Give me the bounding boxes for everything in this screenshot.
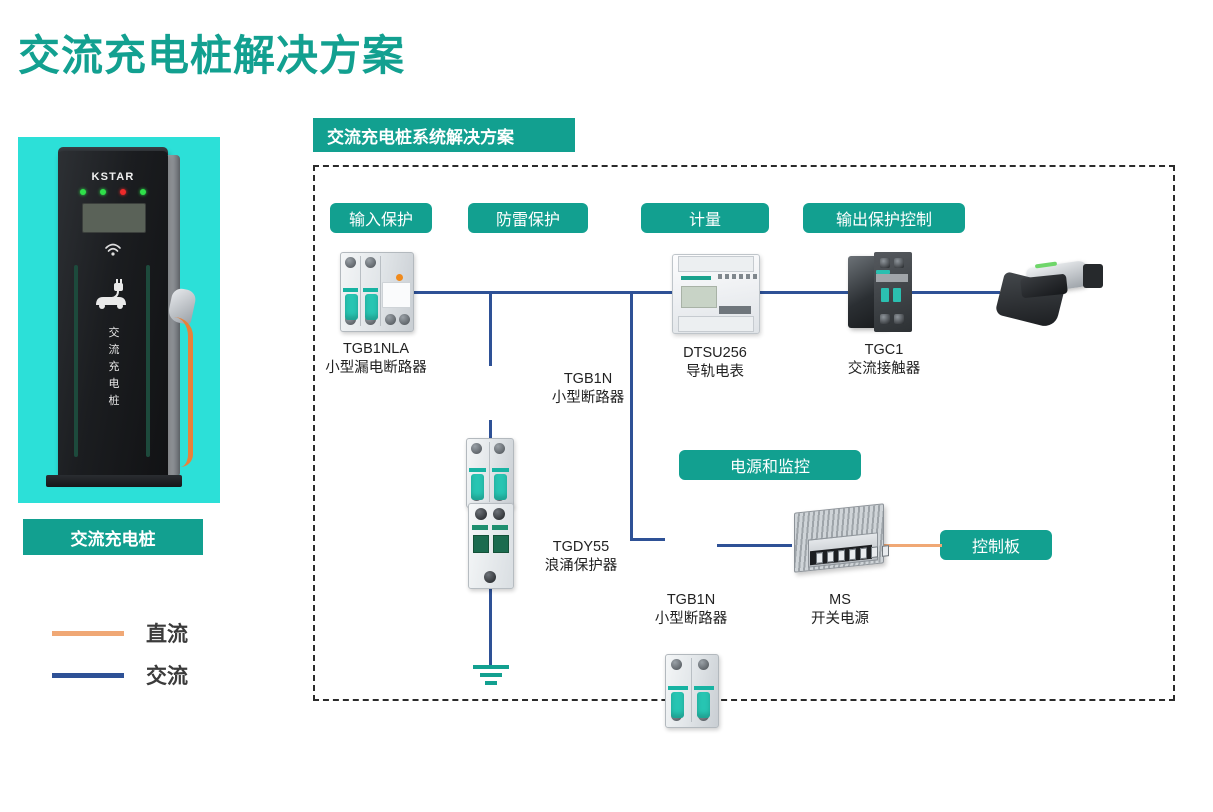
diagram-banner: 交流充电桩系统解决方案: [313, 118, 575, 152]
pile-base: [46, 475, 182, 487]
legend-line-dc: [52, 631, 124, 636]
badge-lightning-protection: 防雷保护: [468, 203, 588, 233]
label-tgb1n-lower-model: TGB1N: [667, 592, 715, 608]
wire-ac-contactor-to-gun: [910, 291, 1000, 294]
label-tgdy55: TGDY55 浪涌保护器: [526, 538, 636, 576]
wire-ac-breaker-to-psu: [717, 544, 792, 547]
label-tgb1nla: TGB1NLA 小型漏电断路器: [306, 340, 446, 378]
wire-ac-surge-to-ground: [489, 585, 492, 667]
rcd-test-indicator: [396, 274, 403, 281]
ev-connector-gun: [995, 258, 1107, 330]
led-green-3: [140, 189, 146, 195]
label-ms-psu: MS 开关电源: [793, 591, 887, 629]
device-ms-power-supply: [794, 508, 882, 566]
device-tgb1n-lower: [665, 654, 717, 726]
wire-ac-main-bus: [412, 291, 676, 294]
label-ms-name: 开关电源: [811, 611, 869, 627]
pile-brand-label: KSTAR: [58, 171, 168, 183]
badge-output-protection-control: 输出保护控制: [803, 203, 965, 233]
device-dtsu256-meter: [672, 254, 758, 332]
label-dtsu256-model: DTSU256: [683, 345, 747, 361]
device-tgb1nla-rcbo: [340, 252, 412, 330]
label-tgc1-name: 交流接触器: [848, 361, 921, 377]
label-tgc1-model: TGC1: [865, 342, 904, 358]
badge-power-and-monitoring: 电源和监控: [679, 450, 861, 480]
led-green-2: [100, 189, 106, 195]
wire-ac-branch-psu: [630, 291, 633, 541]
device-tgdy55-spd: [468, 503, 512, 587]
wire-ac-branch-spd: [489, 291, 492, 366]
charging-pile-photo: KSTAR 交流充电桩: [18, 137, 220, 503]
pile-stripe-left: [74, 265, 78, 457]
label-tgb1n-upper: TGB1N 小型断路器: [528, 370, 648, 408]
photo-caption: 交流充电桩: [23, 519, 203, 555]
badge-metering: 计量: [641, 203, 769, 233]
label-tgb1nla-model: TGB1NLA: [343, 341, 409, 357]
pile-led-row: [80, 189, 146, 197]
legend-item-ac: 交流: [52, 654, 188, 696]
device-tgb1n-upper: [466, 438, 512, 506]
label-ms-model: MS: [829, 592, 851, 608]
label-tgb1n-upper-model: TGB1N: [564, 371, 612, 387]
led-green-1: [80, 189, 86, 195]
label-tgb1n-lower-name: 小型断路器: [655, 611, 728, 627]
label-dtsu256: DTSU256 导轨电表: [660, 344, 770, 382]
pile-charging-cable: [174, 317, 193, 467]
page-title: 交流充电桩解决方案: [18, 22, 405, 83]
wire-dc-psu-to-control-board: [880, 544, 942, 547]
pile-display-screen: [82, 203, 146, 233]
badge-input-protection: 输入保护: [330, 203, 432, 233]
pile-stripe-right: [146, 265, 150, 457]
label-tgdy55-name: 浪涌保护器: [545, 558, 618, 574]
badge-control-board: 控制板: [940, 530, 1052, 560]
label-tgc1: TGC1 交流接触器: [836, 341, 932, 379]
device-tgc1-contactor: [848, 252, 914, 332]
legend: 直流 交流: [52, 612, 188, 696]
legend-label-dc: 直流: [146, 618, 188, 648]
label-dtsu256-name: 导轨电表: [686, 364, 744, 380]
label-tgb1n-lower: TGB1N 小型断路器: [634, 591, 748, 629]
wire-ac-meter-to-contactor: [756, 291, 861, 294]
legend-item-dc: 直流: [52, 612, 188, 654]
wifi-icon: [96, 239, 130, 259]
led-red: [120, 189, 126, 195]
legend-label-ac: 交流: [146, 660, 188, 690]
legend-line-ac: [52, 673, 124, 678]
pile-vertical-text: 交流充电桩: [92, 325, 136, 410]
label-tgb1nla-name: 小型漏电断路器: [325, 360, 427, 376]
ev-charging-icon: [88, 277, 138, 313]
label-tgdy55-model: TGDY55: [553, 539, 609, 555]
label-tgb1n-upper-name: 小型断路器: [552, 390, 625, 406]
